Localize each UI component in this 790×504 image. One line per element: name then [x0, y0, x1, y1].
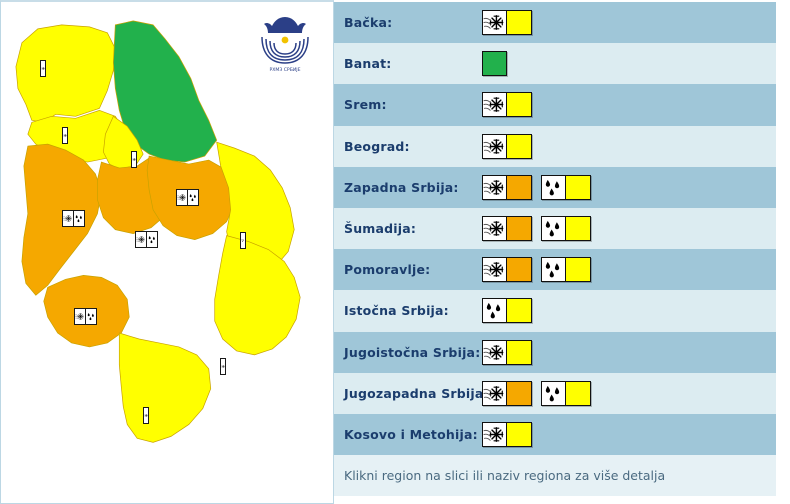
rain-drops-icon: [74, 211, 85, 226]
region-warning-icons: [482, 340, 532, 365]
region-warning-icons: [482, 51, 507, 76]
warning-badge[interactable]: [482, 175, 532, 200]
region-row-label[interactable]: Srem:: [344, 97, 482, 112]
region-row-label[interactable]: Jugozapadna Srbija:: [344, 386, 482, 401]
warning-level-swatch: [507, 257, 532, 282]
warning-level-swatch: [507, 10, 532, 35]
region-row[interactable]: Banat:: [334, 43, 776, 84]
map-marker-pictogram: [74, 210, 86, 227]
region-row[interactable]: Šumadija:: [334, 208, 776, 249]
snow-wind-icon: [483, 135, 506, 158]
warning-badge[interactable]: [541, 216, 591, 241]
region-row-label[interactable]: Zapadna Srbija:: [344, 180, 482, 195]
region-row[interactable]: Jugoistočna Srbija:: [334, 332, 776, 373]
warning-badge[interactable]: [482, 92, 532, 117]
map-region-jugoistocna[interactable]: [215, 236, 300, 355]
warning-pictogram: [541, 257, 566, 282]
warning-pictogram: [482, 10, 507, 35]
region-row-label[interactable]: Beograd:: [344, 139, 482, 154]
map-marker-pictogram: [131, 151, 137, 168]
warning-badge[interactable]: [482, 10, 532, 35]
region-row-label[interactable]: Jugoistočna Srbija:: [344, 345, 482, 360]
snow-wind-icon: [483, 176, 506, 199]
warning-badge[interactable]: [541, 175, 591, 200]
warning-pictogram: [541, 381, 566, 406]
region-row[interactable]: Bačka:: [334, 2, 776, 43]
footer-hint-text: Klikni region na slici ili naziv regiona…: [344, 468, 665, 483]
rain-drops-icon: [241, 233, 245, 248]
warning-badge[interactable]: [482, 422, 532, 447]
rain-drops-icon: [542, 217, 565, 240]
rain-drops-icon: [147, 232, 158, 247]
snow-wind-icon: [75, 309, 85, 324]
warning-level-swatch: [507, 175, 532, 200]
map-warning-marker[interactable]: [143, 407, 155, 424]
snow-wind-icon: [136, 232, 146, 247]
warning-level-swatch: [566, 175, 591, 200]
region-warning-list: Bačka: Banat:Srem:: [334, 0, 790, 504]
warning-pictogram: [482, 175, 507, 200]
snow-wind-icon: [483, 93, 506, 116]
warning-level-swatch: [507, 134, 532, 159]
warning-level-swatch: [566, 216, 591, 241]
snow-wind-icon: [63, 128, 67, 143]
warning-level-swatch: [566, 257, 591, 282]
region-warning-icons: [482, 298, 532, 323]
warning-level-swatch: [507, 216, 532, 241]
warning-badge[interactable]: [482, 257, 532, 282]
region-row-label[interactable]: Kosovo i Metohija:: [344, 427, 482, 442]
region-warning-icons: [482, 257, 591, 282]
map-marker-pictogram: [143, 407, 149, 424]
warning-badge[interactable]: [482, 340, 532, 365]
warning-pictogram: [541, 175, 566, 200]
region-row[interactable]: Pomoravlje:: [334, 249, 776, 290]
map-canvas[interactable]: РХМЗ СРБИЈЕ: [4, 5, 330, 500]
region-row-label[interactable]: Bačka:: [344, 15, 482, 30]
map-marker-pictogram: [74, 308, 86, 325]
region-warning-icons: [482, 134, 532, 159]
map-warning-marker[interactable]: [131, 151, 143, 168]
warning-level-swatch: [507, 298, 532, 323]
map-warning-marker[interactable]: [135, 231, 158, 248]
warning-level-swatch: [507, 340, 532, 365]
snow-wind-icon: [132, 152, 136, 167]
map-warning-marker[interactable]: [176, 189, 199, 206]
snow-wind-icon: [483, 382, 506, 405]
warning-pictogram: [482, 422, 507, 447]
warning-pictogram: [482, 216, 507, 241]
map-region-kosovo[interactable]: [119, 333, 210, 442]
region-warning-icons: [482, 92, 532, 117]
footer-hint: Klikni region na slici ili naziv regiona…: [334, 455, 776, 496]
snow-wind-icon: [483, 341, 506, 364]
region-row[interactable]: Zapadna Srbija:: [334, 167, 776, 208]
warning-level-swatch: [482, 51, 507, 76]
rain-drops-icon: [542, 258, 565, 281]
region-row[interactable]: Jugozapadna Srbija:: [334, 373, 776, 414]
warning-pictogram: [482, 340, 507, 365]
region-warning-icons: [482, 175, 591, 200]
warning-badge[interactable]: [482, 216, 532, 241]
map-warning-marker[interactable]: [62, 127, 74, 144]
warning-pictogram: [482, 257, 507, 282]
warning-badge[interactable]: [482, 134, 532, 159]
warning-badge[interactable]: [541, 257, 591, 282]
map-marker-pictogram: [188, 189, 200, 206]
warning-pictogram: [482, 92, 507, 117]
map-warning-marker[interactable]: [74, 308, 97, 325]
rain-drops-icon: [483, 299, 506, 322]
region-rows: Bačka: Banat:Srem:: [334, 2, 790, 455]
region-row[interactable]: Beograd:: [334, 126, 776, 167]
warning-level-swatch: [566, 381, 591, 406]
map-marker-pictogram: [62, 210, 74, 227]
map-warning-marker[interactable]: [220, 358, 232, 375]
rain-drops-icon: [542, 382, 565, 405]
rain-drops-icon: [188, 190, 199, 205]
snow-wind-icon: [41, 61, 45, 76]
snow-wind-icon: [144, 408, 148, 423]
map-warning-marker[interactable]: [240, 232, 252, 249]
map-marker-pictogram: [240, 232, 246, 249]
map-region-backa[interactable]: [16, 25, 115, 122]
warning-badge[interactable]: [482, 298, 532, 323]
map-marker-pictogram: [40, 60, 46, 77]
map-marker-pictogram: [62, 127, 68, 144]
warning-level-swatch: [507, 92, 532, 117]
warning-badge[interactable]: [482, 381, 532, 406]
snow-wind-icon: [177, 190, 187, 205]
map-panel: РХМЗ СРБИЈЕ: [0, 0, 334, 504]
region-warning-icons: [482, 422, 532, 447]
map-marker-pictogram: [86, 308, 98, 325]
snow-wind-icon: [221, 359, 225, 374]
warning-badge[interactable]: [541, 381, 591, 406]
map-marker-pictogram: [220, 358, 226, 375]
serbia-map-svg[interactable]: [4, 5, 330, 500]
snow-wind-icon: [63, 211, 73, 226]
map-warning-marker[interactable]: [62, 210, 85, 227]
warning-pictogram: [482, 381, 507, 406]
region-warning-icons: [482, 216, 591, 241]
region-row-label[interactable]: Istočna Srbija:: [344, 303, 482, 318]
map-marker-pictogram: [135, 231, 147, 248]
region-row-label[interactable]: Šumadija:: [344, 221, 482, 236]
snow-wind-icon: [483, 423, 506, 446]
rain-drops-icon: [86, 309, 97, 324]
warning-pictogram: [482, 134, 507, 159]
warning-pictogram: [482, 298, 507, 323]
region-row-label[interactable]: Pomoravlje:: [344, 262, 482, 277]
warning-level-swatch: [507, 381, 532, 406]
snow-wind-icon: [483, 217, 506, 240]
warning-page: РХМЗ СРБИЈЕ: [0, 0, 790, 504]
warning-badge[interactable]: [482, 51, 507, 76]
map-warning-marker[interactable]: [40, 60, 52, 77]
map-marker-pictogram: [147, 231, 159, 248]
region-row[interactable]: Srem:: [334, 84, 776, 125]
region-warning-icons: [482, 381, 591, 406]
map-marker-pictogram: [176, 189, 188, 206]
warning-level-swatch: [507, 422, 532, 447]
snow-wind-icon: [483, 258, 506, 281]
warning-pictogram: [541, 216, 566, 241]
rain-drops-icon: [542, 176, 565, 199]
region-warning-icons: [482, 10, 532, 35]
snow-wind-icon: [483, 11, 506, 34]
region-row-label[interactable]: Banat:: [344, 56, 482, 71]
region-row[interactable]: Kosovo i Metohija:: [334, 414, 776, 455]
region-row[interactable]: Istočna Srbija:: [334, 290, 776, 331]
